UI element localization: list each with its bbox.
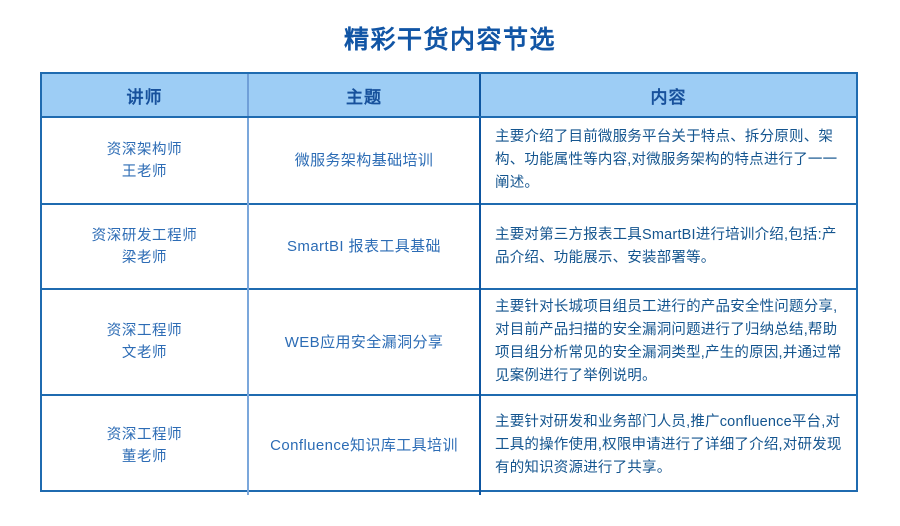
slide-root: 精彩干货内容节选 讲师 主题 内容 资深架构师 王老师 [0,0,900,526]
table-header: 讲师 主题 内容 [42,74,856,117]
speaker-role: 资深工程师 [50,320,239,342]
table-row: 资深工程师 董老师 Confluence知识库工具培训 主要针对研发和业务部门人… [42,395,856,495]
table-row: 资深架构师 王老师 微服务架构基础培训 主要介绍了目前微服务平台关于特点、拆分原… [42,117,856,204]
speaker-name: 王老师 [50,161,239,183]
speaker-name: 文老师 [50,342,239,364]
cell-speaker: 资深研发工程师 梁老师 [42,204,248,289]
speaker-role: 资深架构师 [50,139,239,161]
speaker-name: 董老师 [50,446,239,468]
cell-speaker: 资深工程师 文老师 [42,289,248,395]
cell-detail: 主要介绍了目前微服务平台关于特点、拆分原则、架构、功能属性等内容,对微服务架构的… [480,117,856,204]
cell-detail: 主要针对研发和业务部门人员,推广confluence平台,对工具的操作使用,权限… [480,395,856,495]
cell-topic: SmartBI 报表工具基础 [248,204,480,289]
speaker-role: 资深研发工程师 [50,225,239,247]
table-row: 资深研发工程师 梁老师 SmartBI 报表工具基础 主要对第三方报表工具Sma… [42,204,856,289]
cell-detail: 主要针对长城项目组员工进行的产品安全性问题分享,对目前产品扫描的安全漏洞问题进行… [480,289,856,395]
cell-topic: WEB应用安全漏洞分享 [248,289,480,395]
speaker-role: 资深工程师 [50,424,239,446]
speaker-name: 梁老师 [50,247,239,269]
page-title: 精彩干货内容节选 [0,24,900,56]
cell-detail: 主要对第三方报表工具SmartBI进行培训介绍,包括:产品介绍、功能展示、安装部… [480,204,856,289]
cell-speaker: 资深工程师 董老师 [42,395,248,495]
content-table-container: 讲师 主题 内容 资深架构师 王老师 微服务架构基础培训 主要介绍了目前微服务平… [40,72,858,492]
content-table: 讲师 主题 内容 资深架构师 王老师 微服务架构基础培训 主要介绍了目前微服务平… [42,74,856,495]
column-header-topic: 主题 [248,74,480,117]
cell-topic: 微服务架构基础培训 [248,117,480,204]
cell-speaker: 资深架构师 王老师 [42,117,248,204]
table-row: 资深工程师 文老师 WEB应用安全漏洞分享 主要针对长城项目组员工进行的产品安全… [42,289,856,395]
column-header-detail: 内容 [480,74,856,117]
table-header-row: 讲师 主题 内容 [42,74,856,117]
table-body: 资深架构师 王老师 微服务架构基础培训 主要介绍了目前微服务平台关于特点、拆分原… [42,117,856,495]
cell-topic: Confluence知识库工具培训 [248,395,480,495]
column-header-speaker: 讲师 [42,74,248,117]
